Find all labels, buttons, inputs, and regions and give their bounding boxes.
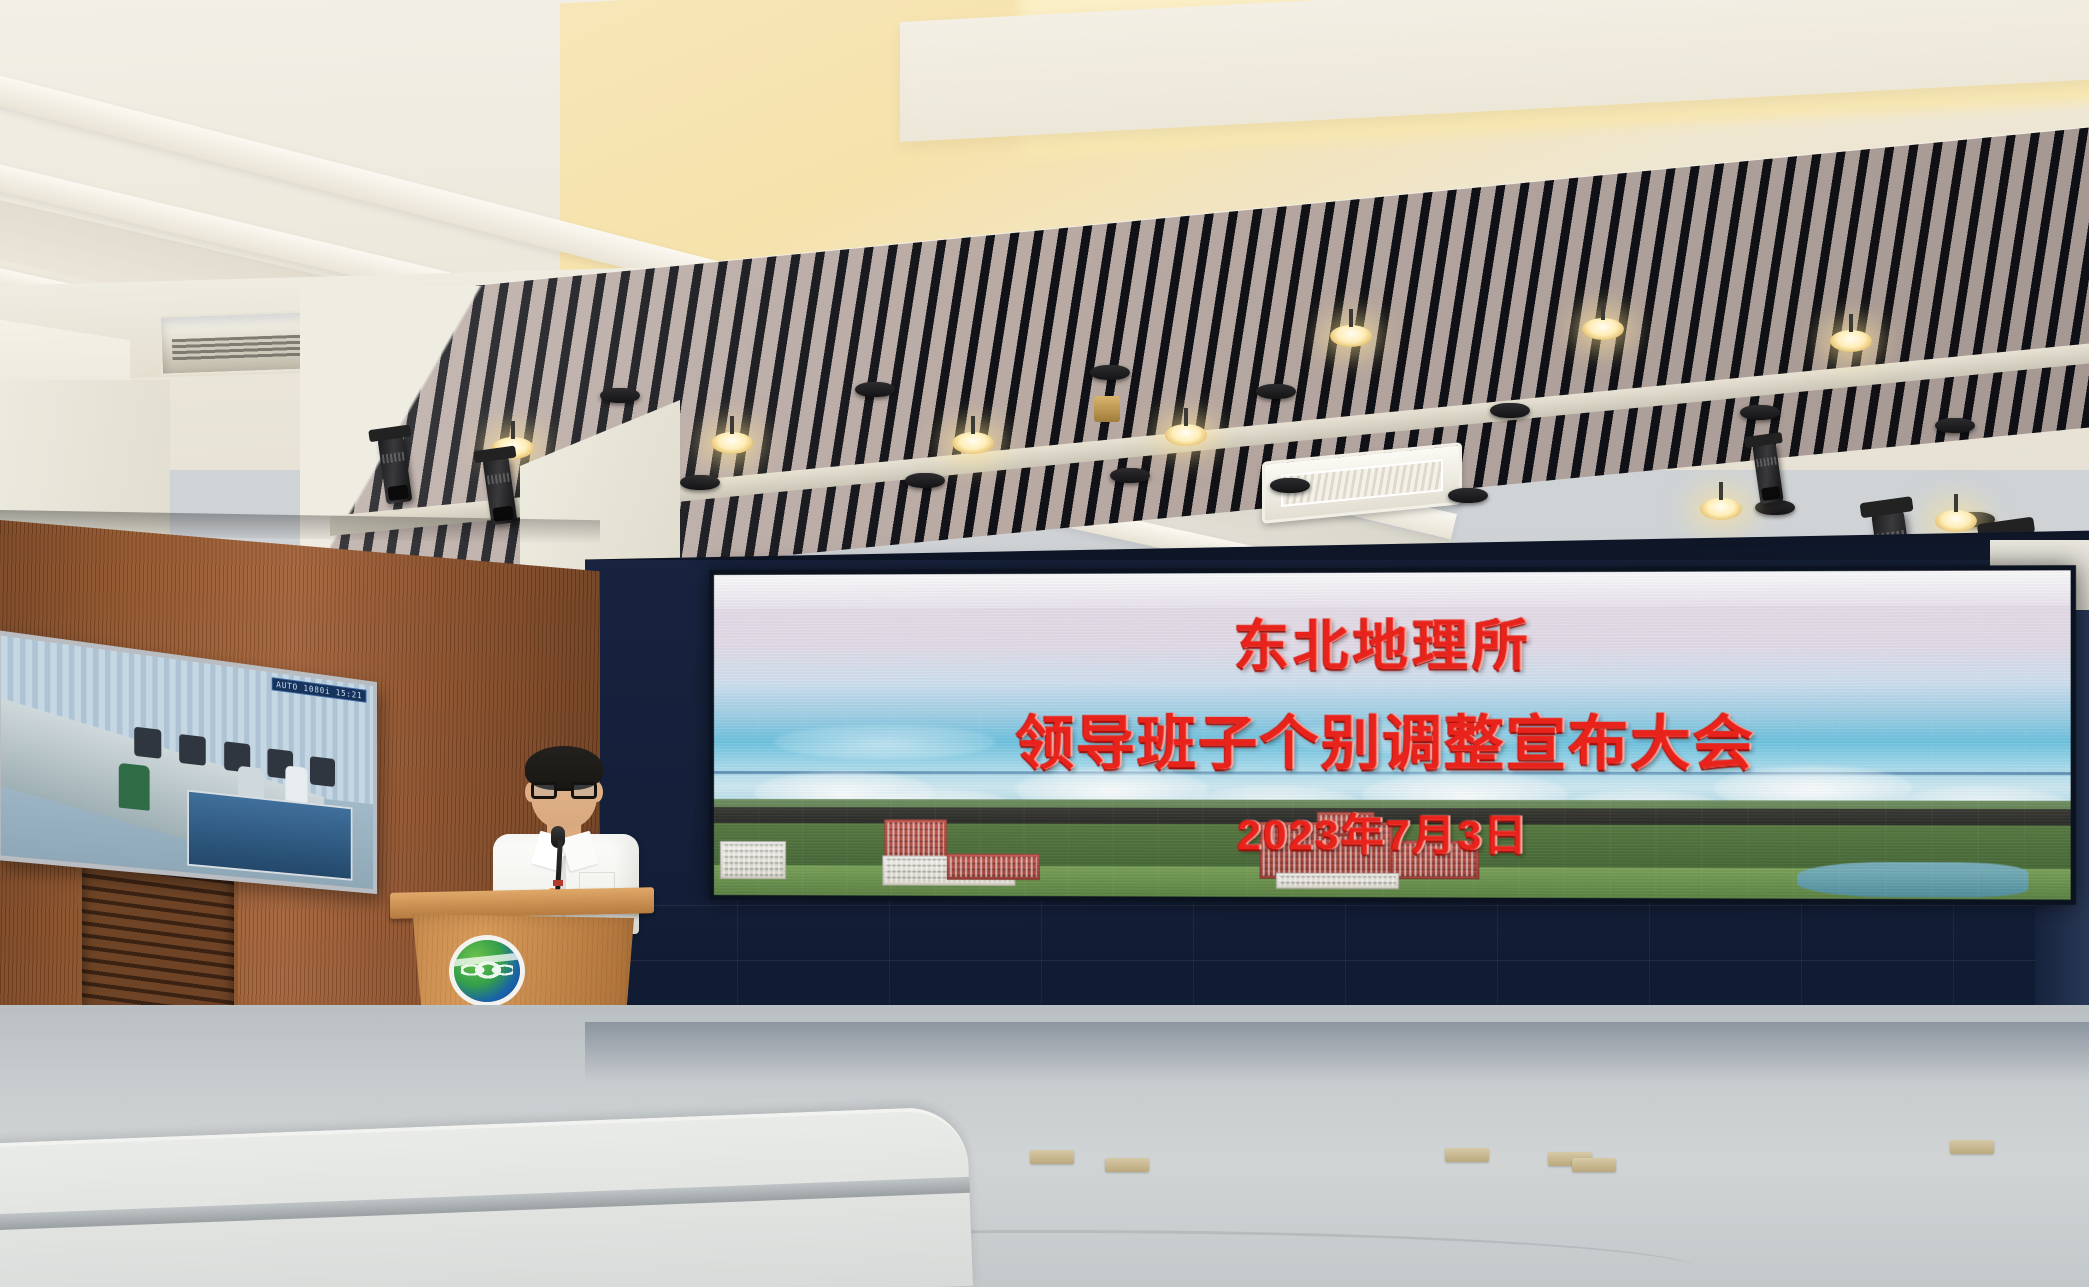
floor-service-box-2 [1105,1158,1149,1172]
floor-service-box-3 [1445,1148,1489,1162]
tv-chair-1 [134,726,161,758]
downlight-8 [1700,498,1742,520]
tv-attendee-3 [285,765,307,803]
floor-service-box-1 [1030,1150,1074,1164]
tv-chair-5 [310,756,335,787]
led-date-line: 2023年7月3日 [1237,801,1529,863]
led-title-line-2: 领导班子个别调整宣布大会 [1016,695,1756,781]
main-led-video-wall[interactable]: 东北地理所 领导班子个别调整宣布大会 2023年7月3日 [709,565,2076,905]
ceiling-speaker-2 [680,475,720,490]
ceiling-speaker-11 [1740,405,1780,420]
ceiling-speaker-4 [905,473,945,488]
ceiling-speaker-9 [1448,488,1488,503]
led-display-surface: 东北地理所 领导班子个别调整宣布大会 2023年7月3日 [714,570,2071,899]
floor-reflection [585,1022,2089,1082]
downlight-3 [952,432,994,454]
ceiling-speaker-8 [1270,478,1310,493]
downlight-9 [1935,510,1977,532]
downlight-4 [1165,424,1207,446]
downlight-7 [1830,330,1872,352]
ceiling-speaker-3 [855,382,895,397]
downlight-6 [1582,318,1624,340]
ceiling-speaker-7 [1256,384,1296,399]
ceiling-speaker-13 [1935,418,1975,433]
tv-picture-in-picture [187,790,352,881]
tv-chair-2 [179,734,206,766]
led-title-line-1: 东北地理所 [1234,601,1532,682]
institute-globe-emblem-icon [454,940,520,1002]
downlight-5 [1330,325,1372,347]
conference-hall-scene: AUTO 1080i 15:21 [0,0,2089,1287]
ceiling-speaker-6 [1110,468,1150,483]
ceiling-speaker-5 [1090,365,1130,380]
ceiling-speaker-1 [600,388,640,403]
tv-screen-content: AUTO 1080i 15:21 [1,636,373,889]
ceiling-speaker-10 [1490,403,1530,418]
podium-desktop [390,887,654,919]
led-text-block: 东北地理所 领导班子个别调整宣布大会 2023年7月3日 [714,570,2071,899]
ceiling-sensor-module [1094,396,1120,422]
microphone-ring [553,880,563,886]
downlight-2 [711,432,753,454]
eyeglasses-icon [531,782,597,799]
floor-service-box-6 [1950,1140,1994,1154]
tv-attendee-1 [119,763,150,811]
floor-service-box-5 [1572,1158,1616,1172]
